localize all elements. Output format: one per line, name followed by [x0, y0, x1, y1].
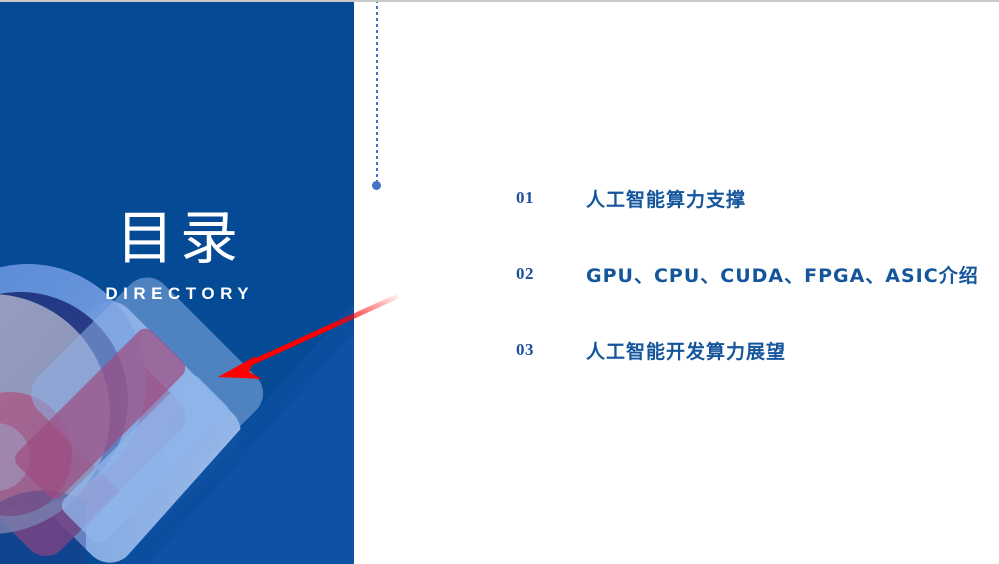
toc-item-01[interactable]: 01 人工智能算力支撑 [516, 160, 976, 236]
toc-number-03: 03 [516, 340, 586, 360]
slide-canvas: 目录 DIRECTORY 01 人工智能算力支撑 02 GPU、CPU、CUDA… [0, 0, 999, 564]
toc-item-03[interactable]: 03 人工智能开发算力展望 [516, 312, 976, 388]
toc-label-02: GPU、CPU、CUDA、FPGA、ASIC介绍 [586, 261, 979, 288]
dotted-connector-line [375, 0, 379, 186]
toc-label-01: 人工智能算力支撑 [586, 185, 976, 212]
toc-number-01: 01 [516, 188, 586, 208]
toc-item-02[interactable]: 02 GPU、CPU、CUDA、FPGA、ASIC介绍 [516, 236, 976, 312]
abstract-geometric-shapes-decoration [0, 2, 354, 564]
slide-top-rule [0, 0, 999, 2]
table-of-contents: 01 人工智能算力支撑 02 GPU、CPU、CUDA、FPGA、ASIC介绍 … [516, 160, 976, 388]
left-title-panel: 目录 DIRECTORY [0, 2, 354, 564]
toc-number-02: 02 [516, 264, 586, 284]
connector-bullet-dot [372, 181, 381, 190]
toc-label-03: 人工智能开发算力展望 [586, 337, 976, 364]
